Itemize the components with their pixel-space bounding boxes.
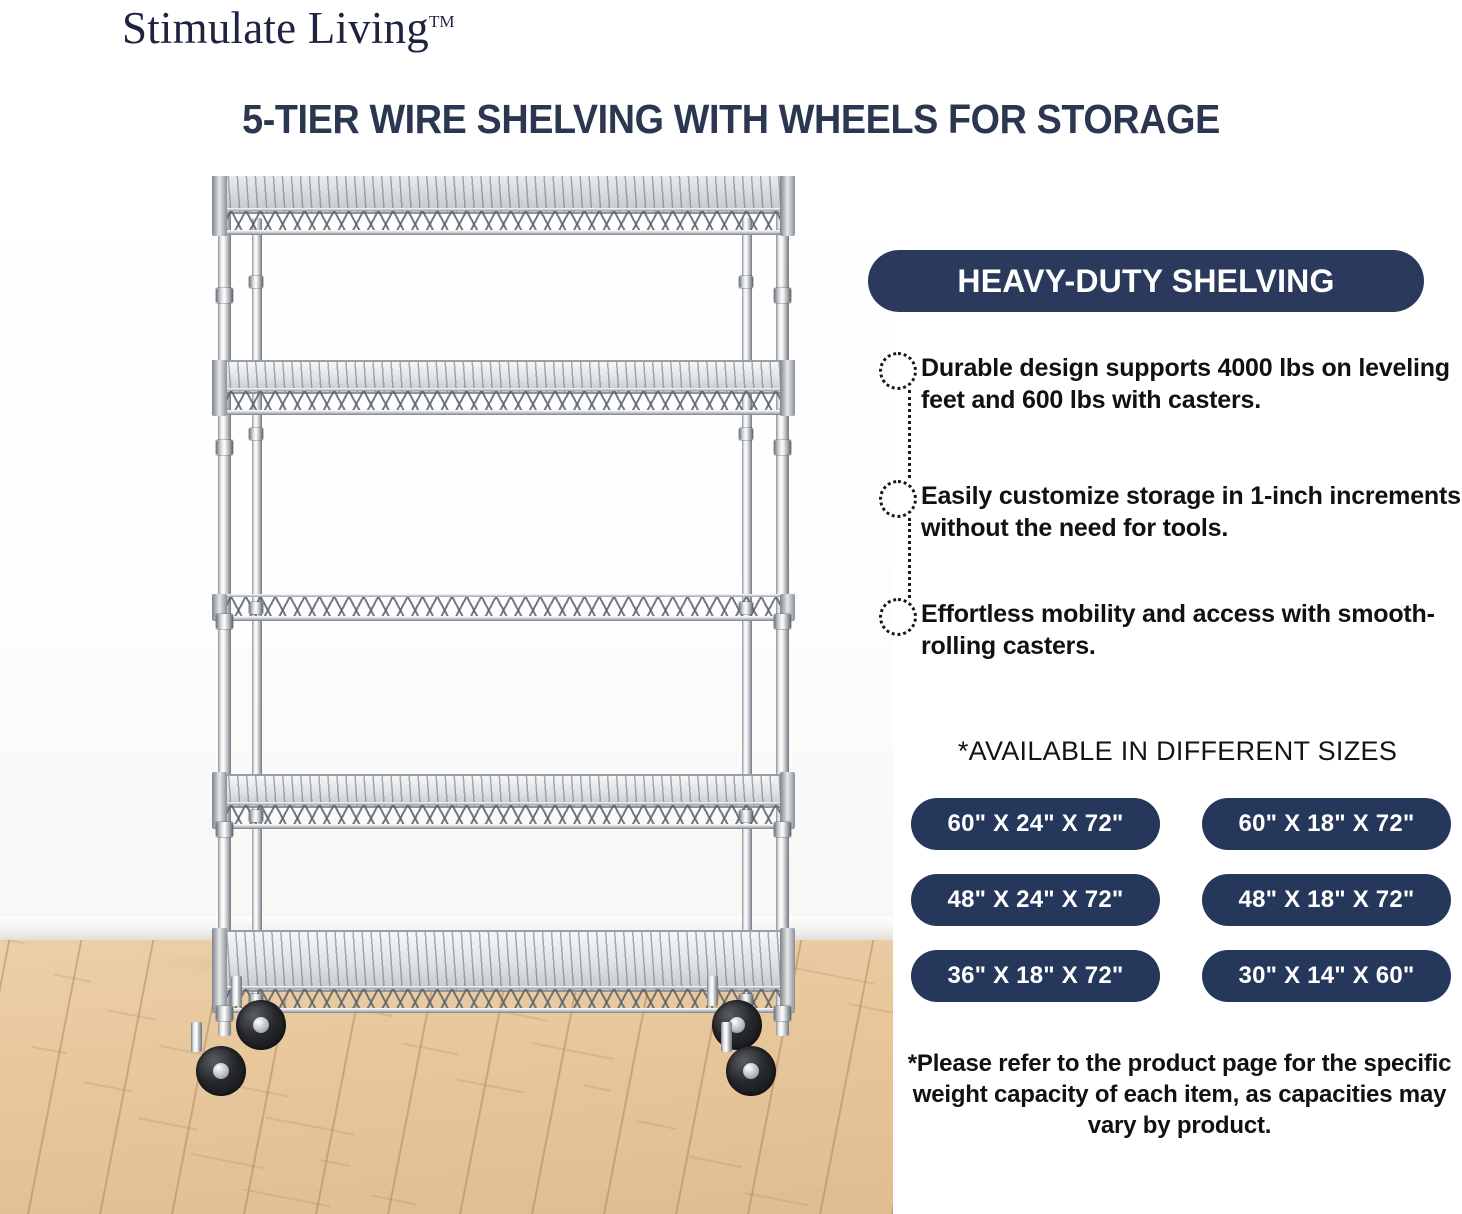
caster-fork (707, 976, 718, 1006)
shelf-collar (216, 614, 233, 629)
shelf-front-edge (212, 1008, 795, 1013)
brand-name: Stimulate Living (122, 3, 429, 53)
bullet-connector-line (908, 518, 911, 598)
shelf-front-edge (212, 616, 795, 621)
trademark-symbol: TM (429, 12, 455, 31)
shelf-front-edge (212, 230, 795, 235)
caster-hub (253, 1017, 269, 1033)
shelf-front-edge (212, 824, 795, 829)
shelf-truss-band (212, 390, 795, 412)
size-options-grid: 60" X 24" X 72"60" X 18" X 72"48" X 24" … (911, 798, 1451, 1002)
shelf-collar (216, 822, 233, 837)
shelf-collar-rear (249, 276, 263, 288)
sizes-heading: *AVAILABLE IN DIFFERENT SIZES (893, 736, 1462, 767)
shelf-collar (774, 614, 791, 629)
shelf-collar-rear (249, 602, 263, 614)
shelf-rail (212, 802, 795, 805)
section-header-pill: HEAVY-DUTY SHELVING (868, 250, 1424, 312)
bullet-connector-line (908, 390, 911, 478)
shelf-rail (212, 594, 795, 597)
feature-item-label: Easily customize storage in 1-inch incre… (921, 480, 1461, 544)
shelf-end-cap (212, 772, 227, 828)
wire-shelf (212, 594, 795, 620)
size-option-chip[interactable]: 60" X 18" X 72" (1202, 798, 1451, 850)
shelf-truss-band (212, 804, 795, 826)
shelf-collar-rear (249, 428, 263, 440)
capacity-disclaimer: *Please refer to the product page for th… (907, 1048, 1452, 1142)
feature-item: Effortless mobility and access with smoo… (921, 598, 1461, 662)
bullet-circle-icon (879, 598, 917, 636)
feature-item-label: Effortless mobility and access with smoo… (921, 598, 1461, 662)
shelf-collar (774, 822, 791, 837)
shelf-end-cap (212, 176, 227, 236)
caster-fork (191, 1022, 202, 1052)
caster-fork (721, 1022, 732, 1052)
shelf-collar (216, 288, 233, 303)
shelf-end-cap (212, 928, 227, 1012)
shelf-rail (212, 388, 795, 391)
brand-logo: Stimulate LivingTM (122, 2, 454, 54)
shelf-collar (216, 440, 233, 455)
caster-fork (231, 976, 242, 1006)
caster-hub (743, 1063, 759, 1079)
shelf-collar-rear (739, 276, 753, 288)
size-option-chip[interactable]: 30" X 14" X 60" (1202, 950, 1451, 1002)
shelf-collar-rear (739, 602, 753, 614)
feature-item: Durable design supports 4000 lbs on leve… (921, 352, 1461, 416)
shelf-collar (774, 440, 791, 455)
feature-item: Easily customize storage in 1-inch incre… (921, 480, 1461, 544)
wire-shelf (212, 360, 795, 416)
size-option-chip[interactable]: 60" X 24" X 72" (911, 798, 1160, 850)
wire-shelf (212, 176, 795, 236)
caster-hub (213, 1063, 229, 1079)
shelving-unit (0, 176, 893, 1214)
feature-item-label: Durable design supports 4000 lbs on leve… (921, 352, 1461, 416)
size-option-chip[interactable]: 48" X 24" X 72" (911, 874, 1160, 926)
bullet-circle-icon (879, 352, 917, 390)
shelf-collar-rear (249, 810, 263, 822)
wire-shelf (212, 772, 795, 828)
shelf-end-cap (780, 928, 795, 1012)
shelf-end-cap (780, 360, 795, 416)
shelf-truss-band (212, 596, 795, 618)
shelf-front-edge (212, 410, 795, 415)
info-panel: HEAVY-DUTY SHELVING Durable design suppo… (893, 0, 1462, 1214)
shelf-collar (774, 1006, 791, 1021)
shelf-end-cap (212, 360, 227, 416)
shelf-end-cap (780, 176, 795, 236)
shelf-collar (774, 288, 791, 303)
shelf-rail (212, 208, 795, 211)
shelf-collar-rear (739, 428, 753, 440)
shelf-truss-band (212, 210, 795, 232)
shelf-collar-rear (739, 810, 753, 822)
product-photo (0, 176, 893, 1214)
size-option-chip[interactable]: 36" X 18" X 72" (911, 950, 1160, 1002)
shelf-collar (216, 1006, 233, 1021)
size-option-chip[interactable]: 48" X 18" X 72" (1202, 874, 1451, 926)
shelf-end-cap (780, 772, 795, 828)
section-header-label: HEAVY-DUTY SHELVING (957, 263, 1334, 300)
bullet-circle-icon (879, 480, 917, 518)
